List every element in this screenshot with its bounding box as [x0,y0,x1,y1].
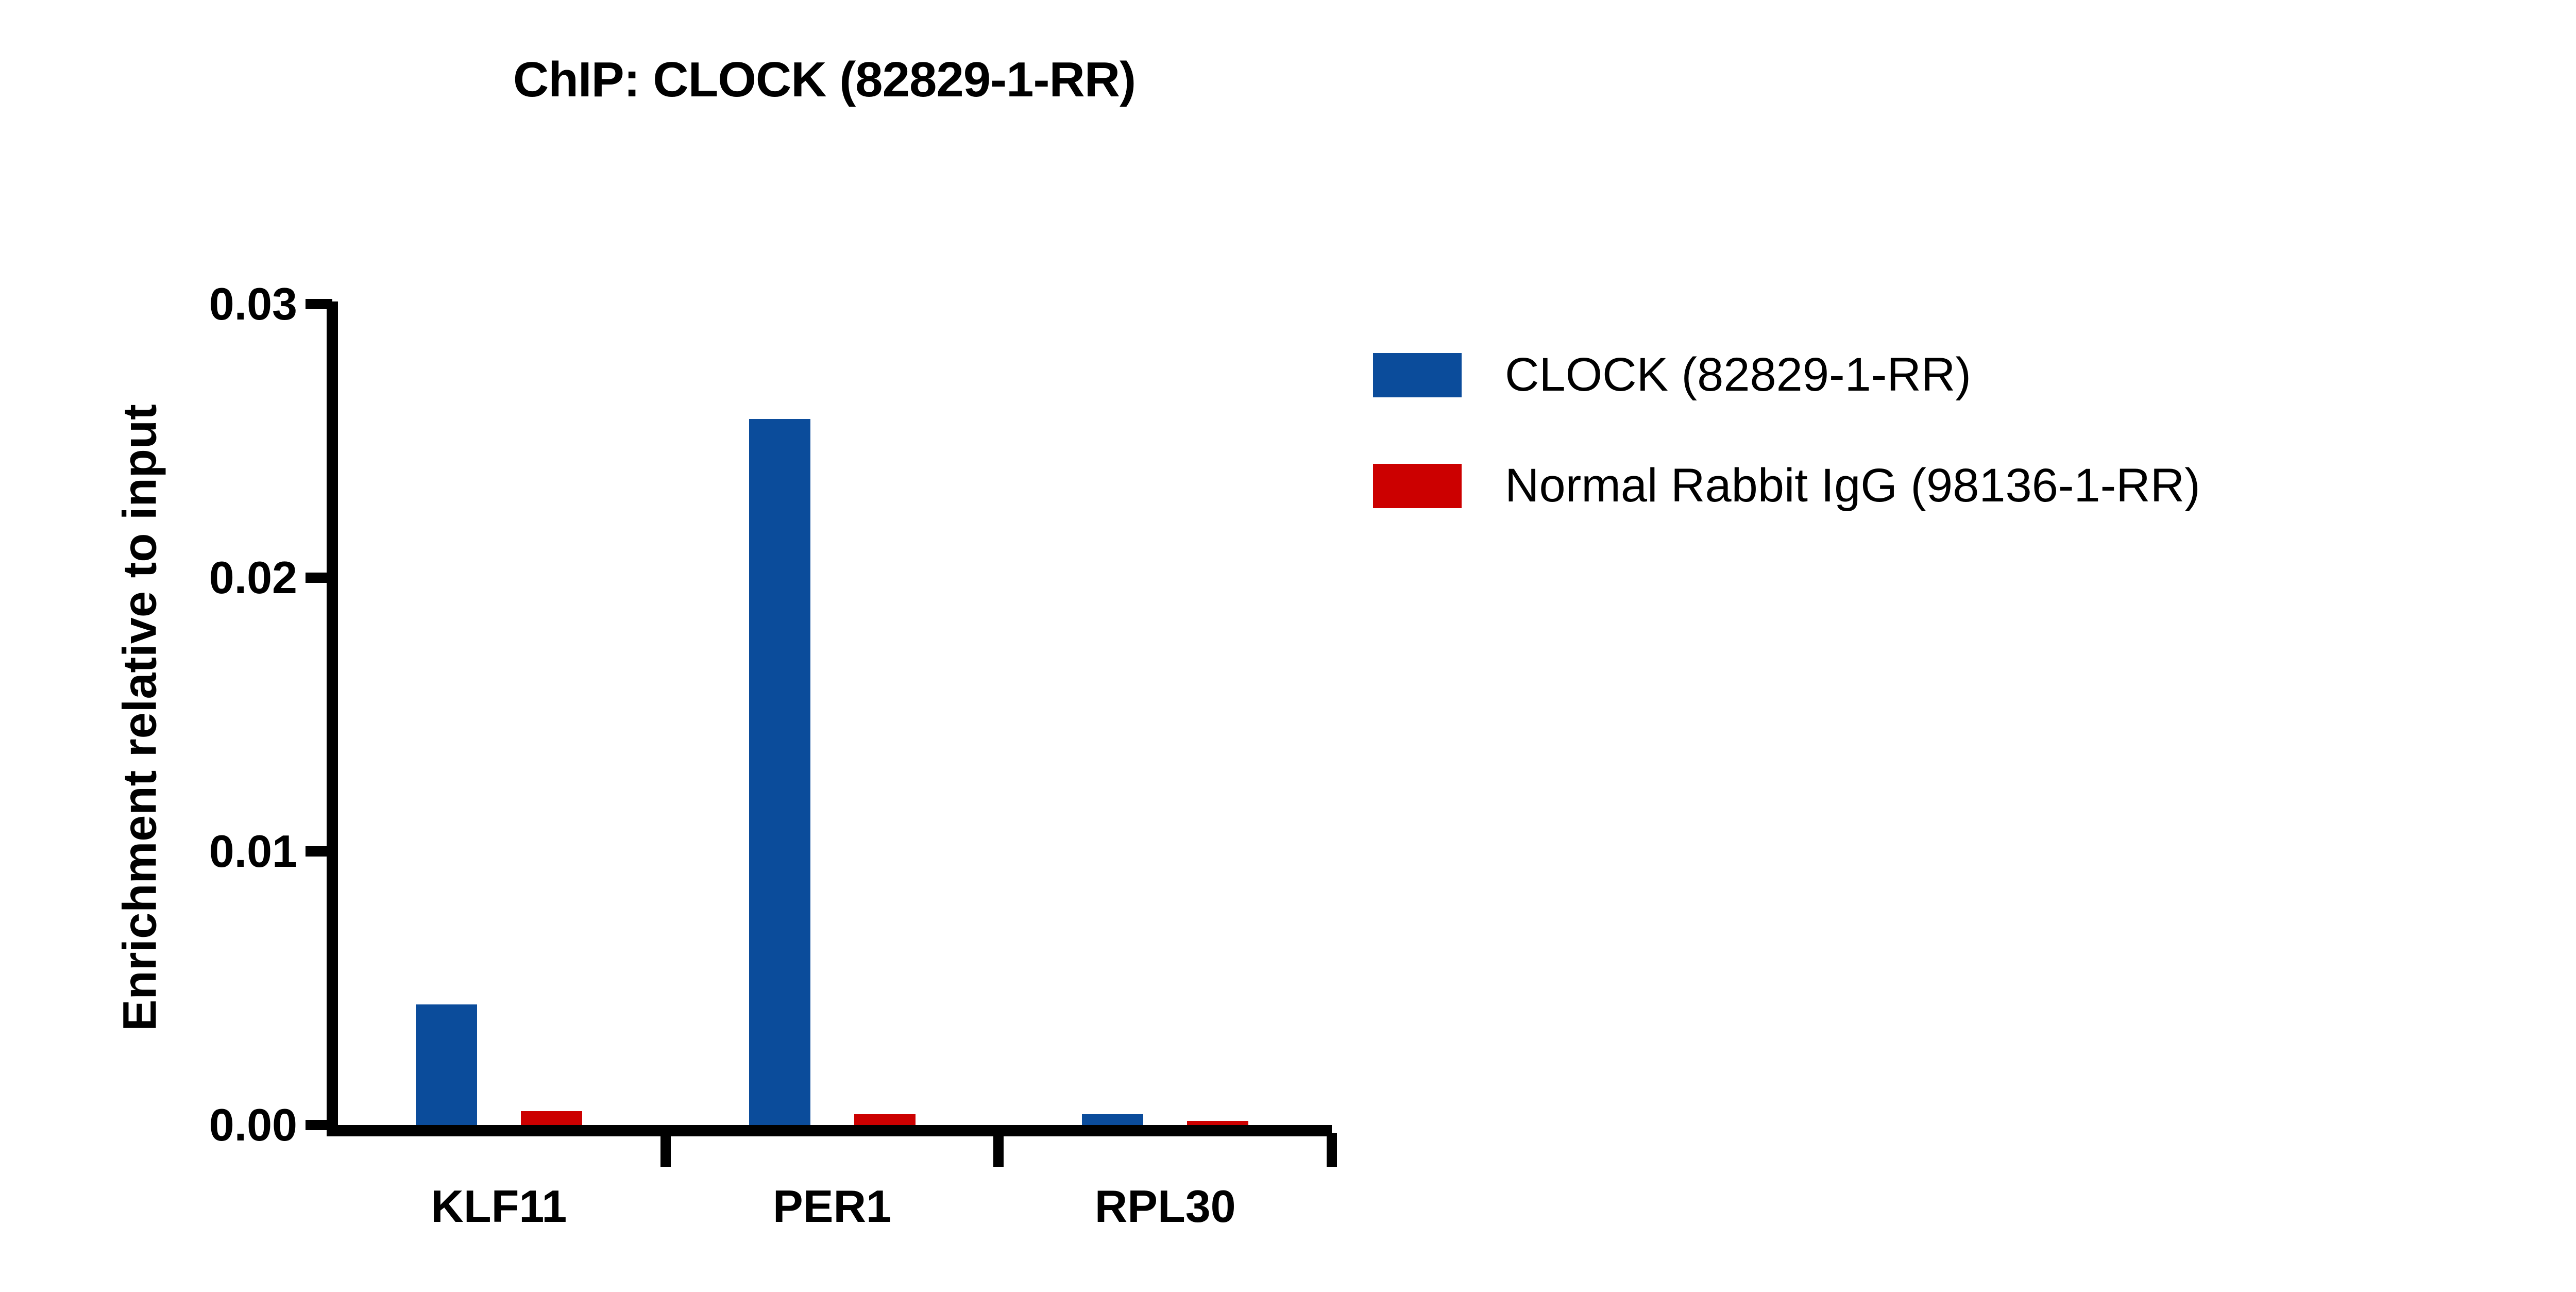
y-axis-spine [327,301,338,1128]
bar-rpl30-series-2 [1187,1121,1248,1125]
legend-label: CLOCK (82829-1-RR) [1505,348,1971,402]
bar-klf11-series-1 [416,1004,477,1125]
legend-swatch-icon [1373,353,1462,397]
x-axis-tick-label: RPL30 [1011,1180,1320,1233]
page-title: ChIP: CLOCK (82829-1-RR) [0,52,1649,108]
x-axis-spine [327,1125,1332,1136]
bar-per1-series-2 [854,1114,916,1125]
y-axis-tick [306,1120,332,1130]
legend-label: Normal Rabbit IgG (98136-1-RR) [1505,459,2200,513]
x-axis-tick [660,1133,671,1167]
y-axis-tick-label: 0.01 [81,825,297,878]
y-axis-tick [306,299,332,309]
legend-item[interactable]: Normal Rabbit IgG (98136-1-RR) [1373,430,2200,541]
y-axis-tick-label: 0.00 [81,1099,297,1151]
x-axis-tick-label: KLF11 [344,1180,653,1233]
y-axis-title: Enrichment relative to input [113,254,167,1182]
y-axis-tick-label: 0.02 [81,551,297,604]
bar-klf11-series-2 [521,1111,582,1125]
y-axis-tick [306,573,332,583]
legend-swatch-icon [1373,464,1462,508]
legend: CLOCK (82829-1-RR)Normal Rabbit IgG (981… [1373,320,2200,541]
y-axis-tick [306,846,332,857]
x-axis-tick [993,1133,1004,1167]
bar-per1-series-1 [749,419,810,1125]
bar-rpl30-series-1 [1082,1114,1143,1125]
plot-area: 0.000.010.020.03 KLF11PER1RPL30 [332,304,1332,1125]
x-axis-tick-label: PER1 [677,1180,987,1233]
y-axis-tick-label: 0.03 [81,278,297,330]
legend-item[interactable]: CLOCK (82829-1-RR) [1373,320,2200,430]
x-axis-tick [1327,1133,1337,1167]
